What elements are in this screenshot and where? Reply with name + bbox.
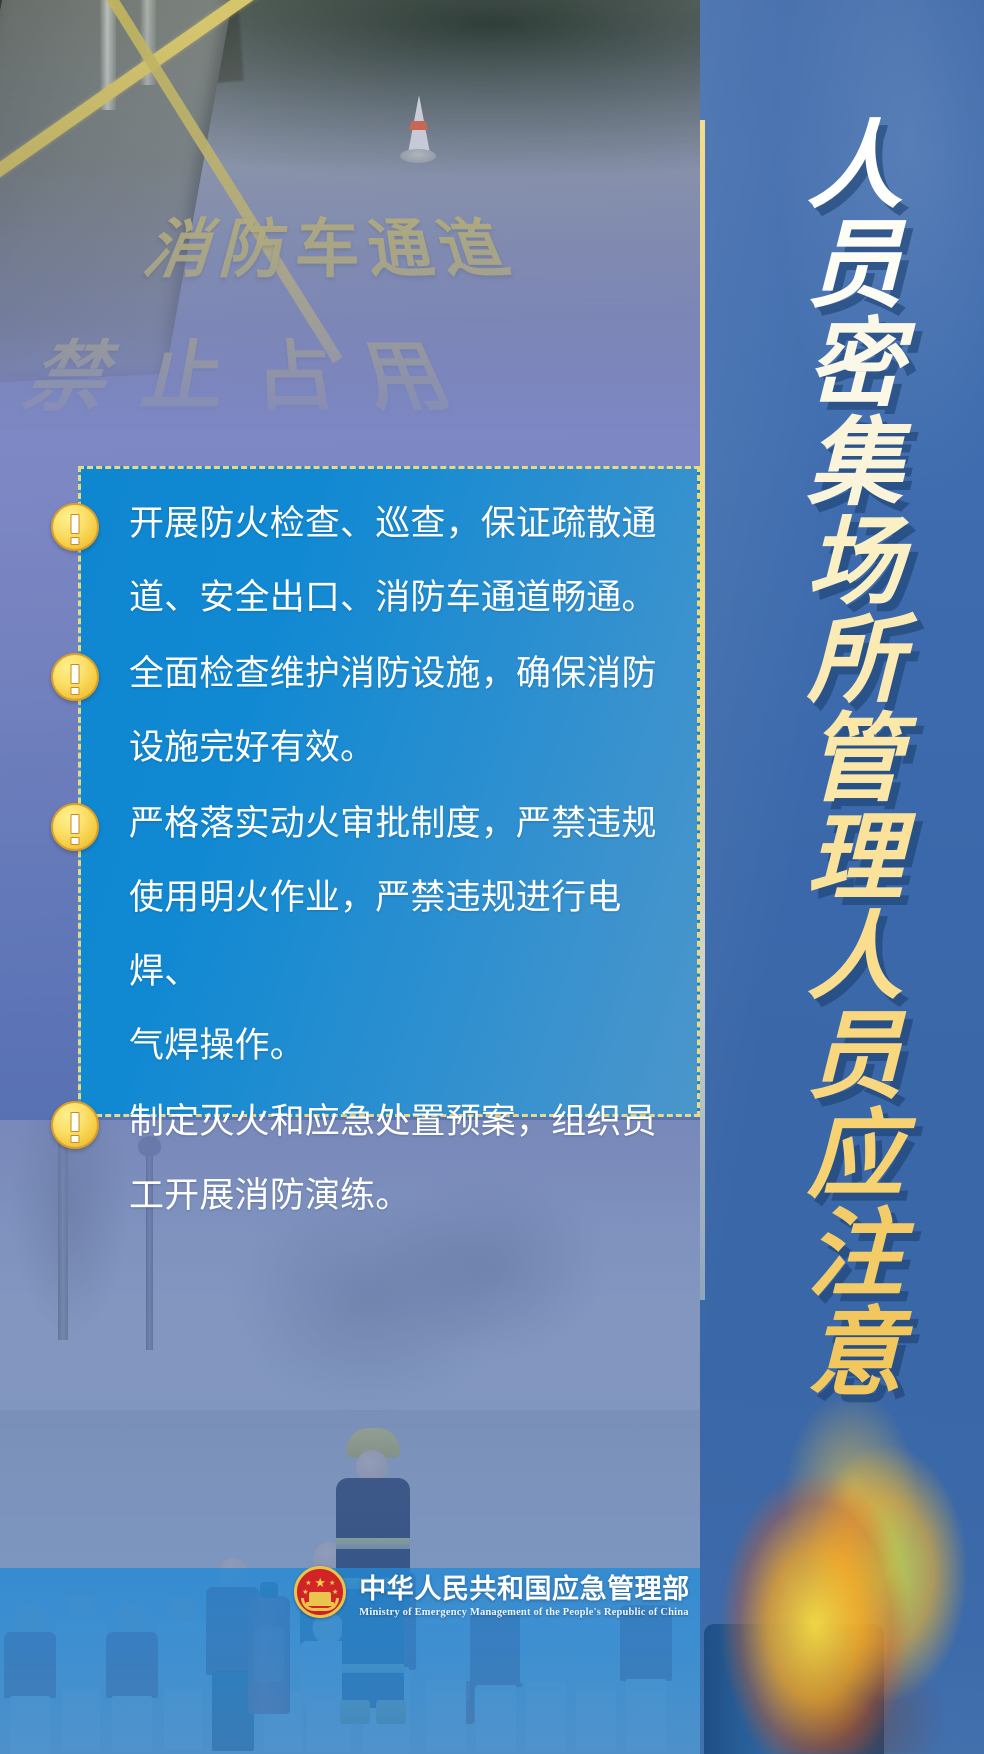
warning-exclamation-icon	[51, 803, 99, 851]
list-item: 全面检查维护消防设施，确保消防 设施完好有效。	[129, 637, 689, 785]
list-item-text: 制定灭火和应急处置预案，组织员 工开展消防演练。	[129, 1085, 689, 1233]
guidelines-card: 开展防火检查、巡查，保证疏散通 道、安全出口、消防车通道畅通。 全面检查维护消防…	[78, 466, 700, 1117]
title-char: 员	[807, 1008, 903, 1107]
title-char: 管	[807, 711, 903, 810]
title-char: 密	[807, 316, 903, 415]
title-char: 意	[807, 1305, 903, 1404]
china-national-emblem-icon: ★ ★ ★ ★ ★	[294, 1566, 346, 1618]
warning-exclamation-icon	[51, 503, 99, 551]
title-char: 所	[807, 612, 903, 711]
list-item: 制定灭火和应急处置预案，组织员 工开展消防演练。	[129, 1085, 689, 1233]
list-item-text: 严格落实动火审批制度，严禁违规 使用明火作业，严禁违规进行电焊、 气焊操作。	[129, 787, 689, 1083]
title-char: 员	[807, 217, 903, 316]
title-char: 人	[807, 909, 903, 1008]
warning-exclamation-icon	[51, 653, 99, 701]
guidelines-list: 开展防火检查、巡查，保证疏散通 道、安全出口、消防车通道畅通。 全面检查维护消防…	[129, 487, 689, 1235]
title-char: 场	[807, 514, 903, 613]
warning-exclamation-icon	[51, 1101, 99, 1149]
fire-safety-poster: 消防车通道 禁止占用	[0, 0, 984, 1754]
list-item: 严格落实动火审批制度，严禁违规 使用明火作业，严禁违规进行电焊、 气焊操作。	[129, 787, 689, 1083]
ministry-name-cn: 中华人民共和国应急管理部	[359, 1567, 689, 1606]
vertical-title: 人 员 密 集 场 所 管 理 人 员 应 注 意	[780, 118, 930, 1403]
ministry-name-en: Ministry of Emergency Management of the …	[359, 1607, 689, 1618]
gold-divider-line	[700, 120, 705, 1300]
list-item-text: 开展防火检查、巡查，保证疏散通 道、安全出口、消防车通道畅通。	[129, 487, 689, 635]
list-item: 开展防火检查、巡查，保证疏散通 道、安全出口、消防车通道畅通。	[129, 487, 689, 635]
list-item-text: 全面检查维护消防设施，确保消防 设施完好有效。	[129, 637, 689, 785]
title-char: 集	[807, 415, 903, 514]
ministry-text: 中华人民共和国应急管理部 Ministry of Emergency Manag…	[359, 1567, 689, 1618]
title-char: 人	[807, 118, 903, 217]
ministry-logo: ★ ★ ★ ★ ★ 中华人民共和国应急管理部 Ministry of Emerg…	[0, 1566, 984, 1618]
title-char: 注	[807, 1206, 903, 1305]
title-char: 理	[807, 810, 903, 909]
title-char: 应	[807, 1107, 903, 1206]
